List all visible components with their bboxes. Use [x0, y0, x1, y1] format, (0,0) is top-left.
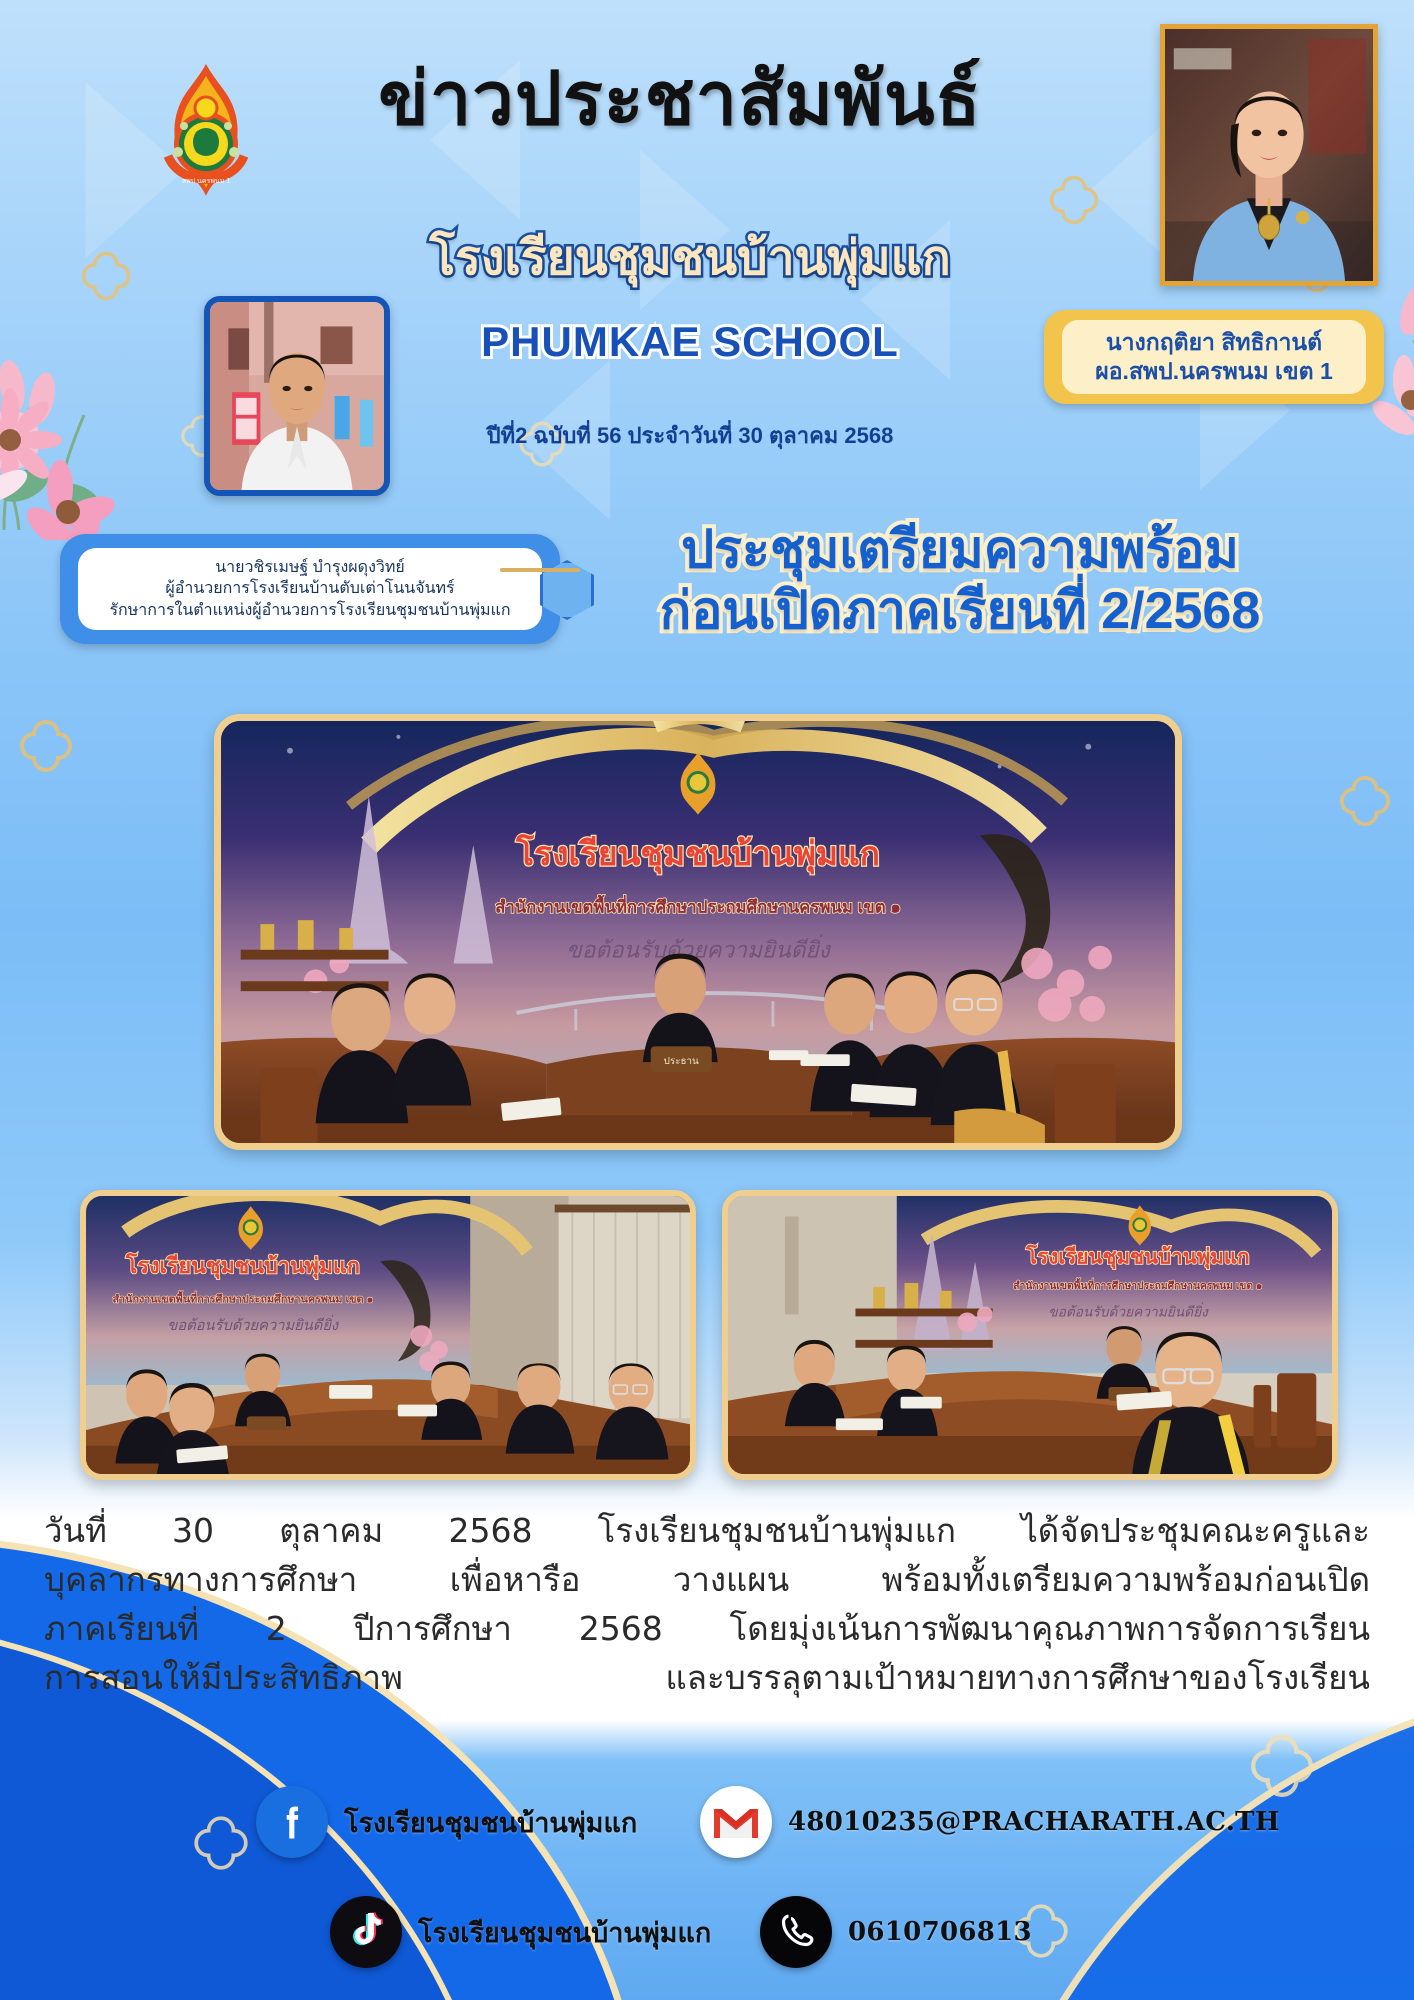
phone-icon[interactable] — [760, 1896, 832, 1968]
director-photo — [1160, 24, 1378, 286]
svg-text:โรงเรียนชุมชนบ้านพุ่มแก: โรงเรียนชุมชนบ้านพุ่มแก — [515, 834, 880, 875]
main-meeting-photo: โรงเรียนชุมชนบ้านพุ่มแก สำนักงานเขตพื้นท… — [214, 714, 1182, 1150]
event-headline: ประชุมเตรียมความพร้อม ก่อนเปิดภาคเรียนที… — [560, 520, 1360, 643]
director-name: นางกฤติยา สิทธิกานต์ — [1106, 328, 1322, 357]
svg-text:ขอต้อนรับด้วยความยินดียิ่ง: ขอต้อนรับด้วยความยินดียิ่ง — [566, 934, 831, 963]
headline-line-2: ก่อนเปิดภาคเรียนที่ 2/2568 — [560, 581, 1360, 642]
principal-position: ผู้อำนวยการโรงเรียนบ้านตับเต่าโนนจันทร์ — [165, 578, 454, 600]
gmail-label: 48010235@PRACHARATH.AC.TH — [788, 1807, 1280, 1837]
tiktok-icon[interactable] — [330, 1896, 402, 1968]
headline-line-1: ประชุมเตรียมความพร้อม — [560, 520, 1360, 581]
svg-text:สำนักงานเขตพื้นที่การศึกษาประถ: สำนักงานเขตพื้นที่การศึกษาประถมศึกษานครพ… — [495, 894, 901, 916]
ministry-emblem-icon: สพป.นครพนม 1 — [152, 60, 260, 200]
tiktok-label: โรงเรียนชุมชนบ้านพุ่มแก — [418, 1911, 711, 1954]
floral-decoration-left — [0, 290, 194, 540]
director-position: ผอ.สพป.นครพนม เขต 1 — [1095, 357, 1332, 386]
svg-text:ขอต้อนรับด้วยความยินดียิ่ง: ขอต้อนรับด้วยความยินดียิ่ง — [1048, 1301, 1209, 1319]
bottom-left-meeting-photo: โรงเรียนชุมชนบ้านพุ่มแก สำนักงานเขตพื้นท… — [80, 1190, 696, 1480]
principal-photo — [204, 296, 390, 496]
quatrefoil-ornament-icon — [16, 716, 76, 776]
school-name-th: โรงเรียนชุมชนบ้านพุ่มแก — [300, 220, 1080, 296]
facebook-icon[interactable] — [256, 1786, 328, 1858]
director-nameplate: นางกฤติยา สิทธิกานต์ ผอ.สพป.นครพนม เขต 1 — [1044, 310, 1384, 404]
principal-nameplate: นายวชิรเมษฐ์ บำรุงผดุงวิทย์ ผู้อำนวยการโ… — [60, 534, 560, 644]
article-line-3: ภาคเรียนที่ 2 ปีการศึกษา 2568 โดยมุ่งเน้… — [44, 1606, 1370, 1653]
svg-text:สพป.นครพนม 1: สพป.นครพนม 1 — [182, 178, 230, 185]
footer-facebook[interactable]: โรงเรียนชุมชนบ้านพุ่มแก — [256, 1786, 637, 1858]
footer-gmail[interactable]: 48010235@PRACHARATH.AC.TH — [700, 1786, 1280, 1858]
footer: โรงเรียนชุมชนบ้านพุ่มแก 48010235@PRACHAR… — [0, 1770, 1414, 2000]
school-name-en: PHUMKAE SCHOOL — [300, 318, 1080, 366]
article-line-2: บุคลากรทางการศึกษา เพื่อหารือ วางแผน พร้… — [44, 1557, 1370, 1604]
article-body: วันที่ 30 ตุลาคม 2568 โรงเรียนชุมชนบ้านพ… — [44, 1508, 1370, 1703]
svg-text:สำนักงานเขตพื้นที่การศึกษาประถ: สำนักงานเขตพื้นที่การศึกษาประถมศึกษานครพ… — [112, 1291, 373, 1306]
facebook-label: โรงเรียนชุมชนบ้านพุ่มแก — [344, 1801, 637, 1844]
poster-canvas: สพป.นครพนม 1 ข่าวประชาสัมพันธ์ โรงเรียนช… — [0, 0, 1414, 2000]
page-title: ข่าวประชาสัมพันธ์ — [300, 62, 1060, 136]
principal-name: นายวชิรเมษฐ์ บำรุงผดุงวิทย์ — [215, 557, 405, 579]
bottom-right-meeting-photo: โรงเรียนชุมชนบ้านพุ่มแก สำนักงานเขตพื้นท… — [722, 1190, 1338, 1480]
issue-line: ปีที่2 ฉบับที่ 56 ประจำวันที่ 30 ตุลาคม … — [300, 418, 1080, 453]
phone-label: 0610706813 — [848, 1917, 1032, 1947]
svg-text:โรงเรียนชุมชนบ้านพุ่มแก: โรงเรียนชุมชนบ้านพุ่มแก — [125, 1252, 360, 1280]
footer-phone[interactable]: 0610706813 — [760, 1896, 1032, 1968]
principal-acting-position: รักษาการในตำแหน่งผู้อำนวยการโรงเรียนชุมช… — [109, 600, 510, 622]
svg-text:ประธาน: ประธาน — [664, 1056, 699, 1067]
svg-text:โรงเรียนชุมชนบ้านพุ่มแก: โรงเรียนชุมชนบ้านพุ่มแก — [1025, 1243, 1249, 1269]
gmail-icon[interactable] — [700, 1786, 772, 1858]
footer-tiktok[interactable]: โรงเรียนชุมชนบ้านพุ่มแก — [330, 1896, 711, 1968]
article-line-4: การสอนให้มีประสิทธิภาพ และบรรลุตามเป้าหม… — [44, 1655, 1370, 1702]
quatrefoil-ornament-icon — [1336, 772, 1394, 830]
quatrefoil-ornament-icon — [78, 248, 134, 304]
article-line-1: วันที่ 30 ตุลาคม 2568 โรงเรียนชุมชนบ้านพ… — [44, 1508, 1370, 1555]
